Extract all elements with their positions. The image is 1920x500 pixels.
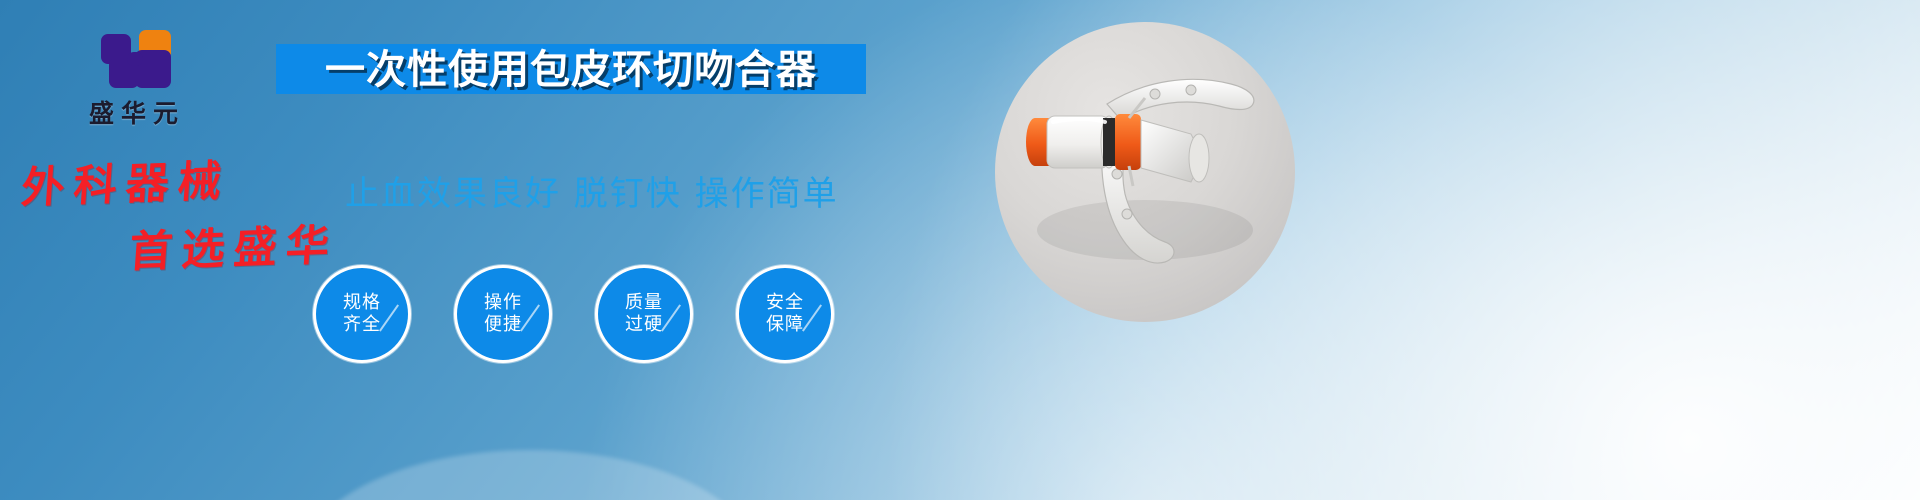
subtitle: 止血效果良好 脱钉快 操作简单	[345, 166, 839, 215]
slash-decoration-icon	[379, 304, 399, 331]
decorative-arc	[300, 450, 760, 500]
feature-circle-1[interactable]: 规格 齐全	[313, 265, 411, 363]
calligraphy-slogan: 外科器械 首选盛华	[22, 150, 352, 276]
feature-circle-4[interactable]: 安全 保障	[736, 265, 834, 363]
page-title: 一次性使用包皮环切吻合器	[325, 50, 817, 90]
feature-label-line1: 安全	[766, 292, 804, 315]
feature-label-line1: 质量	[625, 292, 663, 315]
feature-label-line1: 规格	[343, 292, 381, 315]
product-illustration-icon	[995, 22, 1295, 322]
logo-block-5	[127, 52, 143, 66]
slash-decoration-icon	[661, 304, 681, 331]
feature-label-line2: 便捷	[484, 314, 522, 337]
product-title-banner: 一次性使用包皮环切吻合器	[276, 44, 866, 94]
product-image[interactable]	[995, 22, 1295, 322]
feature-label-line2: 齐全	[343, 314, 381, 337]
calligraphy-line-2: 首选盛华	[128, 210, 341, 279]
calligraphy-line-1: 外科器械	[20, 146, 233, 215]
slash-decoration-icon	[520, 304, 540, 331]
feature-label-line2: 过硬	[625, 314, 663, 337]
feature-label-line2: 保障	[766, 314, 804, 337]
brand-name: 盛华元	[62, 94, 212, 130]
feature-label-line1: 操作	[484, 292, 522, 315]
feature-circle-2[interactable]: 操作 便捷	[454, 265, 552, 363]
promo-banner: 盛华元 一次性使用包皮环切吻合器 外科器械 首选盛华 止血效果良好 脱钉快 操作…	[0, 0, 1920, 500]
slash-decoration-icon	[802, 304, 822, 331]
feature-list: 规格 齐全 操作 便捷 质量 过硬 安全 保障	[313, 265, 834, 363]
feature-circle-3[interactable]: 质量 过硬	[595, 265, 693, 363]
brand-logo[interactable]: 盛华元	[62, 28, 212, 130]
logo-mark-icon	[101, 28, 173, 88]
